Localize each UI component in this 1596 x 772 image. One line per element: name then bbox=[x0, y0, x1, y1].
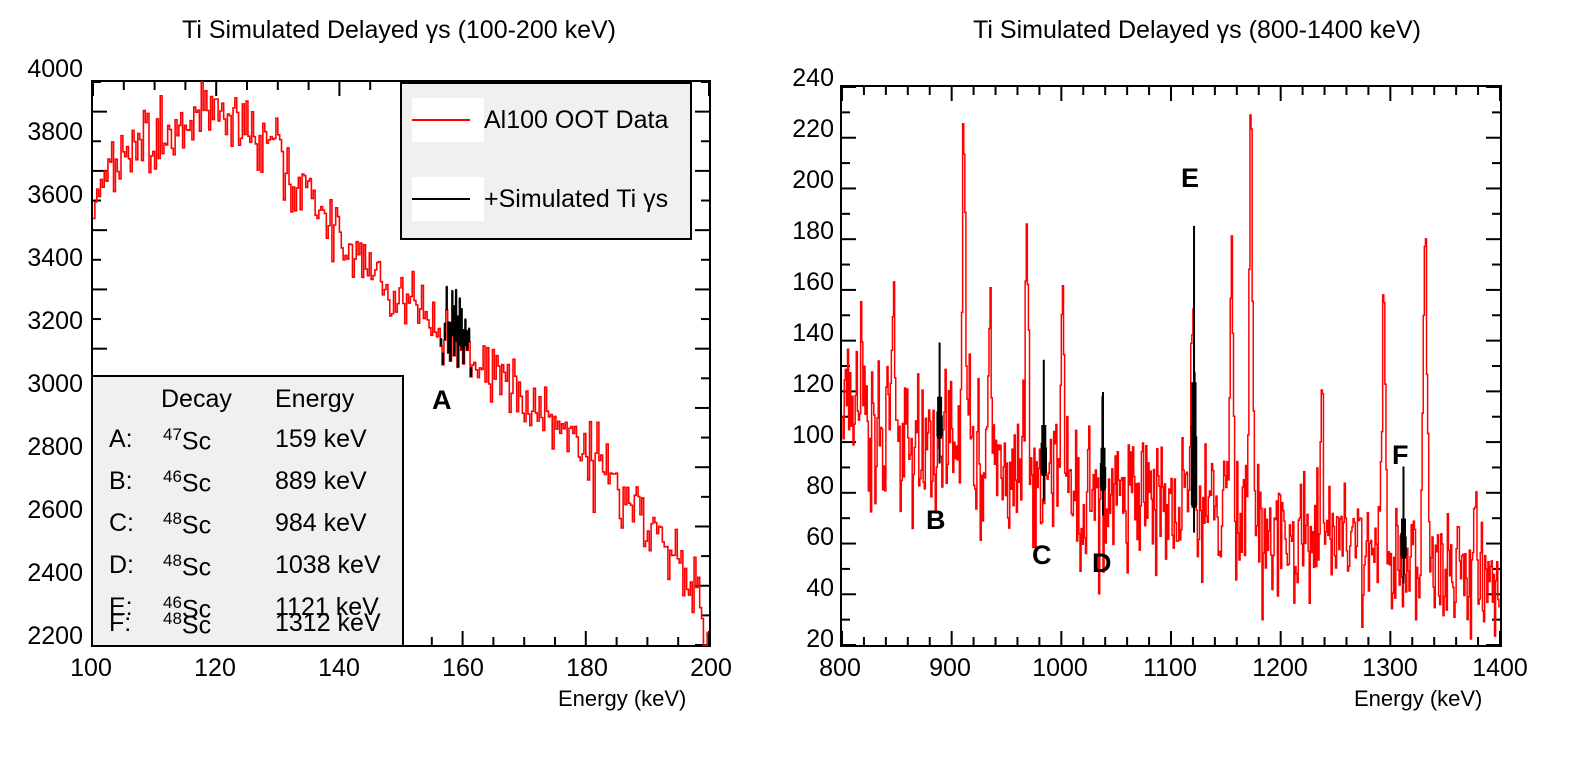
decay-table-row-energy: 984 keV bbox=[275, 509, 367, 538]
isotope-element: Sc bbox=[182, 427, 211, 455]
right-ytick-label: 60 bbox=[740, 523, 834, 552]
figure-canvas: Ti Simulated Delayed γs (100-200 keV) 22… bbox=[0, 0, 1596, 772]
decay-table-header-energy: Energy bbox=[275, 385, 354, 414]
right-ytick-label: 180 bbox=[740, 217, 834, 246]
left-xaxis-title: Energy (keV) bbox=[558, 686, 686, 712]
right-ytick-label: 20 bbox=[740, 625, 834, 654]
left-xtick-label: 160 bbox=[423, 654, 503, 683]
decay-table-row-energy: 1312 keV bbox=[275, 609, 381, 638]
isotope-element: Sc bbox=[182, 553, 211, 581]
decay-table-row-decay: 48Sc bbox=[163, 609, 211, 640]
isotope-mass: 46 bbox=[163, 467, 182, 486]
decay-table-row-energy: 159 keV bbox=[275, 425, 367, 454]
right-xtick-label: 900 bbox=[910, 654, 990, 683]
isotope-element: Sc bbox=[182, 511, 211, 539]
right-xtick-label: 1200 bbox=[1240, 654, 1320, 683]
legend-swatch-sim bbox=[412, 177, 484, 221]
legend-swatch-data bbox=[412, 98, 484, 142]
left-ytick-label: 4000 bbox=[0, 55, 83, 84]
isotope-mass: 47 bbox=[163, 425, 182, 444]
decay-table-row-decay: 47Sc bbox=[163, 425, 211, 456]
left-xtick-label: 180 bbox=[547, 654, 627, 683]
legend-label-sim: +Simulated Ti γs bbox=[484, 185, 668, 214]
peak-label-d: D bbox=[1092, 548, 1112, 579]
legend-entry-sim[interactable]: +Simulated Ti γs bbox=[412, 177, 668, 221]
right-xtick-label: 1400 bbox=[1460, 654, 1540, 683]
decay-table-header-decay: Decay bbox=[161, 385, 232, 414]
decay-table-row-energy: 1038 keV bbox=[275, 551, 381, 580]
peak-label-a: A bbox=[432, 385, 452, 416]
peak-label-b: B bbox=[926, 505, 946, 536]
decay-table-row-decay: 48Sc bbox=[163, 551, 211, 582]
decay-table-row-key: B: bbox=[109, 467, 133, 496]
right-xtick-label: 1100 bbox=[1130, 654, 1210, 683]
decay-table-row-key: A: bbox=[109, 425, 133, 454]
right-ytick-label: 100 bbox=[740, 421, 834, 450]
right-xtick-label: 1000 bbox=[1020, 654, 1100, 683]
right-ytick-label: 220 bbox=[740, 115, 834, 144]
left-ytick-label: 3400 bbox=[0, 244, 83, 273]
left-ytick-label: 3200 bbox=[0, 307, 83, 336]
right-ytick-label: 200 bbox=[740, 166, 834, 195]
isotope-mass: 48 bbox=[163, 551, 182, 570]
right-ytick-label: 160 bbox=[740, 268, 834, 297]
peak-label-f: F bbox=[1392, 440, 1409, 471]
left-ytick-label: 3600 bbox=[0, 181, 83, 210]
decay-table-row-decay: 46Sc bbox=[163, 467, 211, 498]
right-xaxis-title: Energy (keV) bbox=[1354, 686, 1482, 712]
peak-label-c: C bbox=[1032, 540, 1052, 571]
isotope-element: Sc bbox=[182, 611, 211, 639]
right-ytick-label: 140 bbox=[740, 319, 834, 348]
left-xtick-label: 120 bbox=[175, 654, 255, 683]
isotope-element: Sc bbox=[182, 469, 211, 497]
left-xtick-label: 200 bbox=[671, 654, 751, 683]
isotope-mass: 48 bbox=[163, 609, 182, 628]
right-ytick-label: 120 bbox=[740, 370, 834, 399]
decay-table-grid: Decay Energy A: 47Sc 159 keV B: 46Sc 889… bbox=[93, 377, 402, 645]
decay-table-row-key: F: bbox=[109, 609, 131, 638]
decay-table-row-energy: 889 keV bbox=[275, 467, 367, 496]
right-xtick-label: 1300 bbox=[1350, 654, 1430, 683]
decay-table: Decay Energy A: 47Sc 159 keV B: 46Sc 889… bbox=[91, 375, 404, 647]
peak-label-e: E bbox=[1181, 163, 1199, 194]
left-ytick-label: 2600 bbox=[0, 496, 83, 525]
right-xtick-label: 800 bbox=[800, 654, 880, 683]
decay-table-row-key: D: bbox=[109, 551, 134, 580]
right-panel: Ti Simulated Delayed γs (800-1400 keV) 2… bbox=[798, 0, 1596, 772]
left-xtick-label: 140 bbox=[299, 654, 379, 683]
left-ytick-label: 2800 bbox=[0, 433, 83, 462]
left-ytick-label: 3800 bbox=[0, 118, 83, 147]
isotope-mass: 48 bbox=[163, 509, 182, 528]
left-ytick-label: 3000 bbox=[0, 370, 83, 399]
legend-entry-data[interactable]: Al100 OOT Data bbox=[412, 98, 668, 142]
legend-box: Al100 OOT Data +Simulated Ti γs bbox=[400, 82, 692, 240]
left-ytick-label: 2200 bbox=[0, 622, 83, 651]
left-panel: Ti Simulated Delayed γs (100-200 keV) 22… bbox=[0, 0, 798, 772]
left-xtick-label: 100 bbox=[51, 654, 131, 683]
right-ytick-label: 240 bbox=[740, 64, 834, 93]
legend-label-data: Al100 OOT Data bbox=[484, 106, 668, 135]
right-ytick-label: 80 bbox=[740, 472, 834, 501]
right-ytick-label: 40 bbox=[740, 574, 834, 603]
left-ytick-label: 2400 bbox=[0, 559, 83, 588]
decay-table-row-key: C: bbox=[109, 509, 134, 538]
decay-table-row-decay: 48Sc bbox=[163, 509, 211, 540]
